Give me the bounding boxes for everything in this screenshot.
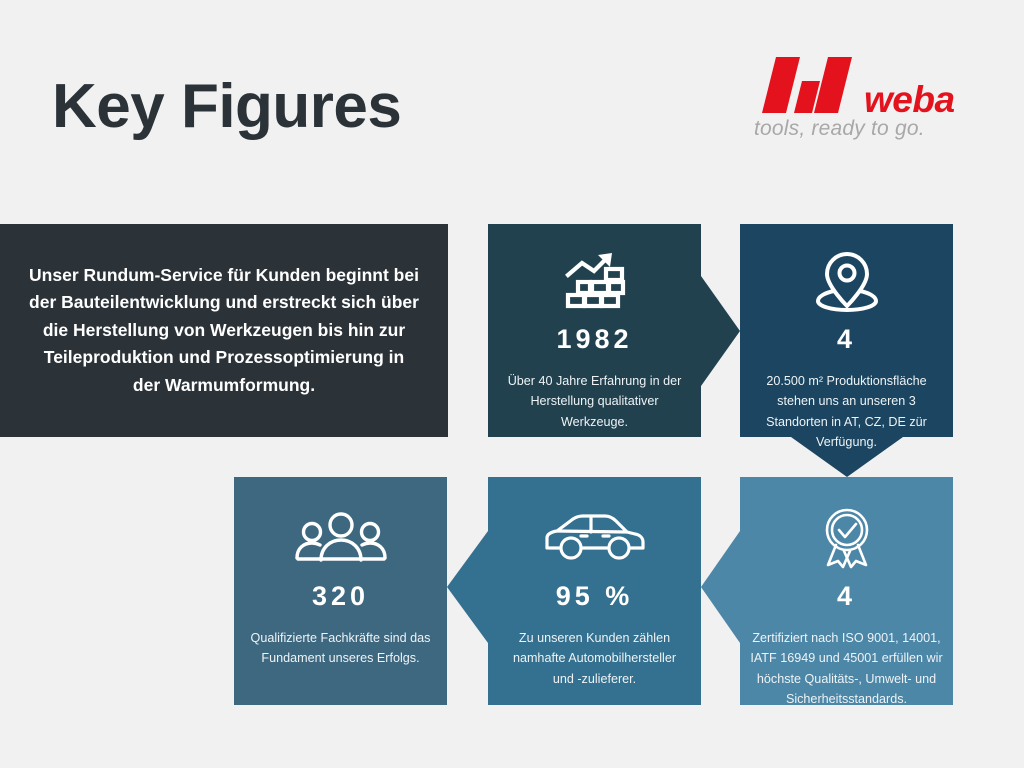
arrow-left-icon: [447, 531, 488, 643]
stat-value: 4: [837, 326, 856, 353]
weba-bars-logo-mark: [752, 57, 862, 113]
stat-description: Qualifizierte Fachkräfte sind das Fundam…: [234, 628, 447, 669]
stat-value: 320: [312, 583, 369, 610]
statement-panel: Unser Rundum-Service für Kunden beginnt …: [0, 224, 448, 437]
weba-logo: weba tools, ready to go.: [752, 57, 962, 153]
stat-card-year-founded: 1982 Über 40 Jahre Erfahrung in der Hers…: [488, 224, 701, 437]
stat-description: 20.500 m² Produktionsfläche stehen uns a…: [740, 371, 953, 453]
stat-card-locations: 4 20.500 m² Produktionsfläche stehen uns…: [740, 224, 953, 437]
stat-description: Zertifiziert nach ISO 9001, 14001, IATF …: [740, 628, 953, 710]
stat-value: 1982: [556, 326, 632, 353]
stat-description: Über 40 Jahre Erfahrung in der Herstellu…: [488, 371, 701, 432]
car-icon: [543, 507, 647, 569]
weba-tagline: tools, ready to go.: [754, 117, 925, 141]
infographic-slide: Key Figures weba tools, ready to go. Uns…: [0, 0, 1024, 768]
stat-card-certifications: 4 Zertifiziert nach ISO 9001, 14001, IAT…: [740, 477, 953, 705]
arrow-right-icon: [701, 276, 740, 386]
stat-description: Zu unseren Kunden zählen namhafte Automo…: [488, 628, 701, 689]
weba-wordmark: weba: [864, 79, 955, 121]
brick-wall-growth-arrow-icon: [562, 250, 628, 312]
stat-card-employees: 320 Qualifizierte Fachkräfte sind das Fu…: [234, 477, 447, 705]
award-rosette-check-icon: [816, 507, 878, 569]
stat-value: 4: [837, 583, 856, 610]
arrow-left-icon: [701, 531, 740, 643]
statement-text: Unser Rundum-Service für Kunden beginnt …: [28, 261, 420, 399]
stat-value: 95 %: [556, 583, 634, 610]
stat-card-automotive-customers: 95 % Zu unseren Kunden zählen namhafte A…: [488, 477, 701, 705]
page-title: Key Figures: [52, 76, 401, 138]
location-pin-icon: [814, 250, 880, 312]
people-group-icon: [293, 507, 389, 569]
